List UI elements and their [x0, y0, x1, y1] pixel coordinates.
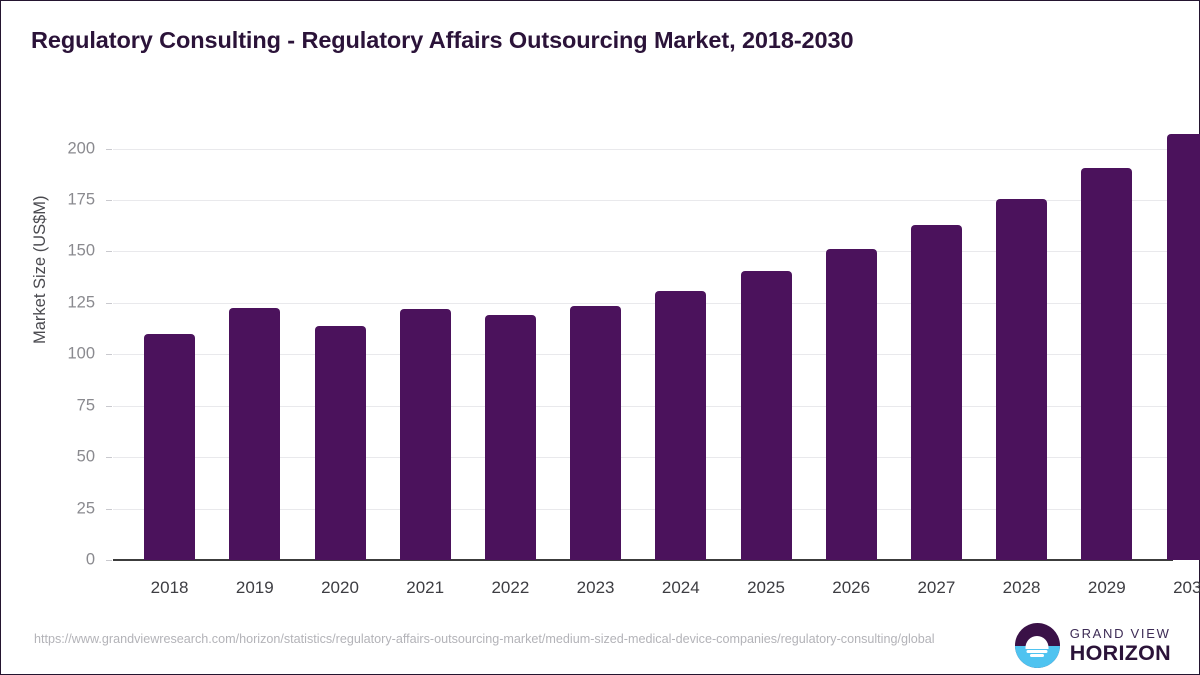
y-tick-mark [106, 200, 112, 201]
y-tick-label: 125 [67, 293, 95, 312]
y-tick-label: 175 [67, 191, 95, 210]
y-axis-title: Market Size (US$M) [31, 195, 50, 344]
y-tick-label: 150 [67, 242, 95, 261]
sunrise-circle-icon [1015, 623, 1060, 668]
x-tick-label: 2030 [1173, 578, 1200, 598]
logo-wordmark: GRAND VIEW HORIZON [1070, 627, 1171, 665]
y-tick-mark [106, 149, 112, 150]
bar[interactable] [400, 309, 451, 560]
logo-ray-1 [1027, 650, 1048, 653]
y-tick-label: 0 [86, 551, 95, 570]
bar[interactable] [996, 199, 1047, 560]
plot-area: 0255075100125150175200 20182019202020212… [113, 128, 1173, 560]
bar[interactable] [485, 315, 536, 560]
bar[interactable] [570, 306, 621, 560]
bar[interactable] [826, 249, 877, 560]
bar[interactable] [1081, 168, 1132, 560]
logo-bottom-text: HORIZON [1070, 643, 1171, 665]
x-tick-label: 2024 [662, 578, 700, 598]
x-tick-label: 2028 [1003, 578, 1041, 598]
bar[interactable] [655, 291, 706, 560]
y-tick-label: 100 [67, 345, 95, 364]
bar-series [113, 128, 1173, 560]
x-tick-label: 2025 [747, 578, 785, 598]
x-tick-label: 2022 [491, 578, 529, 598]
bar[interactable] [1167, 134, 1200, 560]
x-tick-label: 2020 [321, 578, 359, 598]
x-tick-label: 2023 [577, 578, 615, 598]
page-title: Regulatory Consulting - Regulatory Affai… [31, 27, 853, 54]
chart-page: Regulatory Consulting - Regulatory Affai… [0, 0, 1200, 675]
y-tick-mark [106, 303, 112, 304]
bar[interactable] [911, 225, 962, 560]
x-tick-label: 2018 [151, 578, 189, 598]
logo-ray-2 [1030, 654, 1044, 657]
x-tick-label: 2021 [406, 578, 444, 598]
y-tick-mark [106, 354, 112, 355]
bar[interactable] [741, 271, 792, 560]
y-tick-mark [106, 457, 112, 458]
logo-top-text: GRAND VIEW [1070, 627, 1171, 640]
x-tick-label: 2026 [832, 578, 870, 598]
source-url[interactable]: https://www.grandviewresearch.com/horizo… [34, 630, 949, 648]
bar[interactable] [144, 334, 195, 560]
logo-dome-shape [1026, 636, 1049, 649]
brand-logo: GRAND VIEW HORIZON [1015, 623, 1171, 668]
y-tick-mark [106, 560, 112, 561]
y-tick-mark [106, 251, 112, 252]
bar[interactable] [229, 308, 280, 560]
y-tick-mark [106, 509, 112, 510]
x-tick-label: 2019 [236, 578, 274, 598]
x-tick-label: 2027 [917, 578, 955, 598]
bar[interactable] [315, 326, 366, 561]
y-tick-mark [106, 406, 112, 407]
x-tick-label: 2029 [1088, 578, 1126, 598]
y-tick-label: 50 [77, 448, 95, 467]
y-tick-label: 75 [77, 396, 95, 415]
y-tick-label: 25 [77, 499, 95, 518]
y-tick-label: 200 [67, 139, 95, 158]
